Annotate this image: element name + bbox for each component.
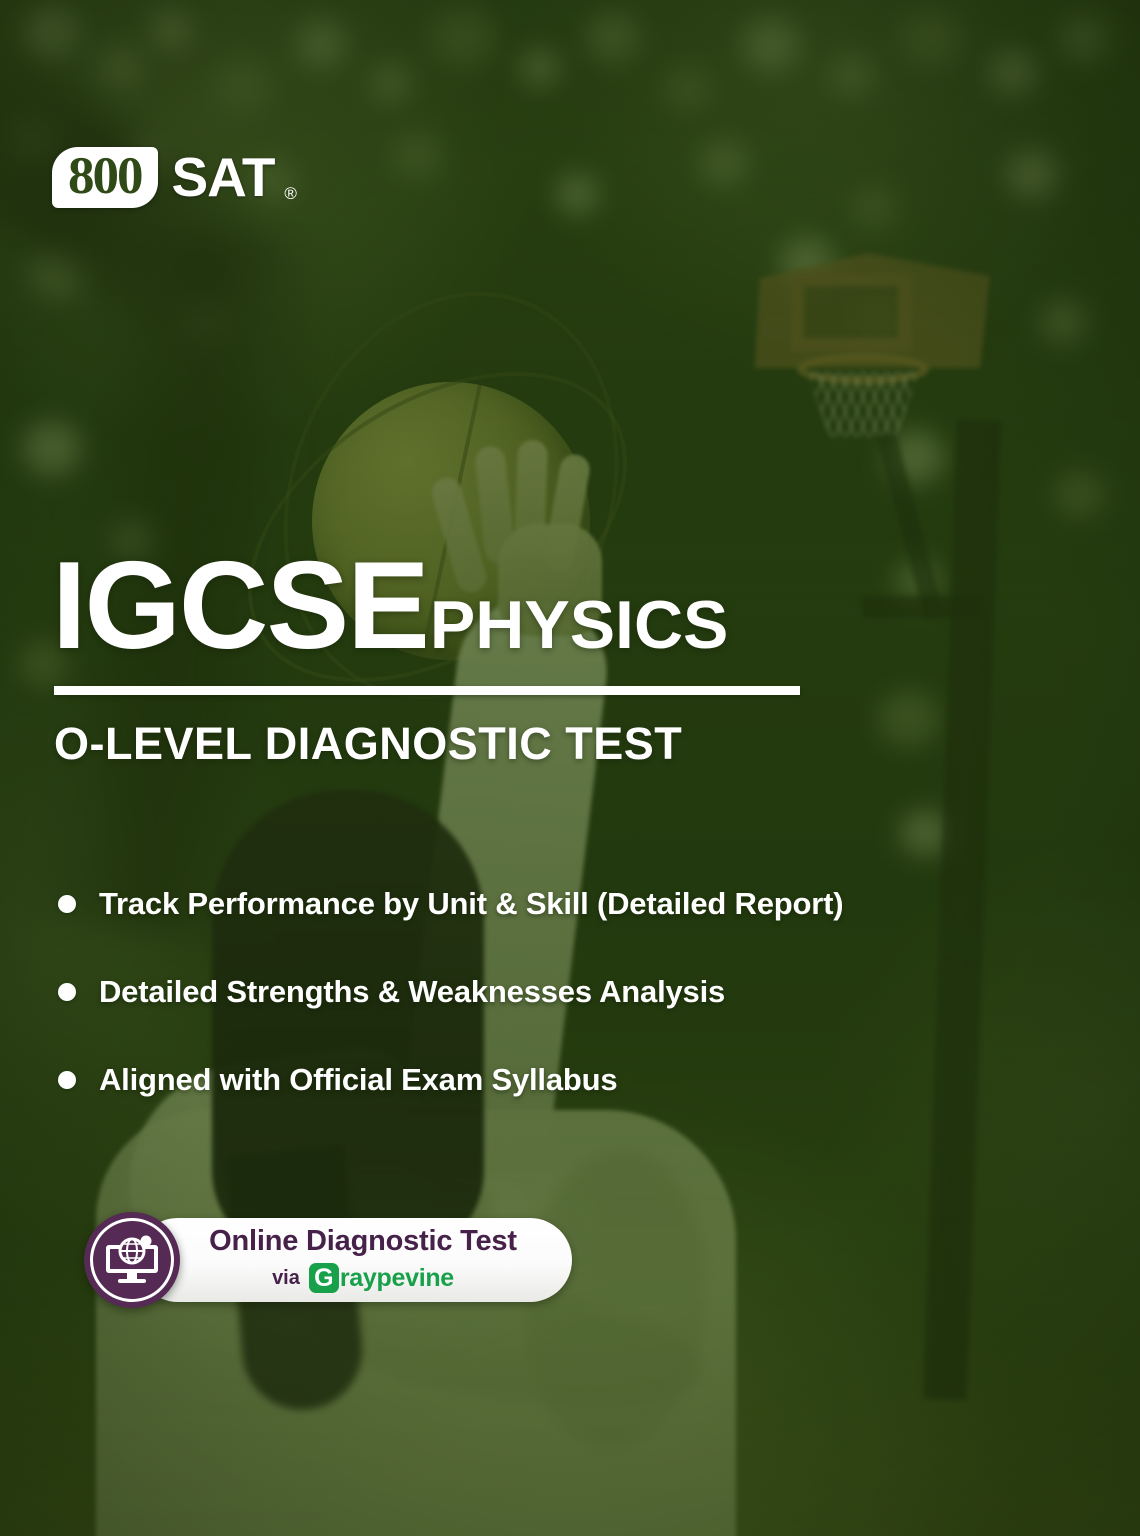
- feature-label: Aligned with Official Exam Syllabus: [99, 1062, 617, 1098]
- badge-provider-line: via G raypevine: [154, 1263, 572, 1293]
- feature-list: Track Performance by Unit & Skill (Detai…: [58, 886, 898, 1150]
- badge-via-label: via: [272, 1268, 300, 1288]
- poster-content: 800 SAT ® IGCSE PHYSICS O-LEVEL DIAGNOST…: [0, 0, 1140, 1536]
- graypevine-logo: G raypevine: [309, 1263, 454, 1293]
- title-main: IGCSE: [52, 548, 428, 665]
- brand-logo: 800 SAT ®: [52, 147, 297, 208]
- feature-label: Track Performance by Unit & Skill (Detai…: [99, 886, 843, 922]
- list-item: Aligned with Official Exam Syllabus: [58, 1062, 898, 1098]
- logo-sat-word: SAT: [172, 150, 275, 205]
- poster-canvas: 800 SAT ® IGCSE PHYSICS O-LEVEL DIAGNOST…: [0, 0, 1140, 1536]
- graypevine-g-mark-icon: G: [309, 1263, 339, 1293]
- logo-800-mark: 800: [52, 147, 158, 208]
- title-subject: PHYSICS: [430, 591, 729, 659]
- registered-trademark-icon: ®: [284, 184, 297, 204]
- feature-label: Detailed Strengths & Weaknesses Analysis: [99, 974, 725, 1010]
- online-test-badge[interactable]: Online Diagnostic Test via G raypevine: [84, 1212, 572, 1308]
- list-item: Detailed Strengths & Weaknesses Analysis: [58, 974, 898, 1010]
- filled-circle-bullet-icon: [58, 983, 76, 1001]
- title-tagline: O-LEVEL DIAGNOSTIC TEST: [54, 718, 682, 770]
- badge-title: Online Diagnostic Test: [154, 1227, 572, 1256]
- badge-text: Online Diagnostic Test via G raypevine: [154, 1227, 572, 1293]
- page-title: IGCSE PHYSICS: [52, 548, 728, 665]
- graypevine-wordmark: raypevine: [340, 1266, 454, 1291]
- filled-circle-bullet-icon: [58, 895, 76, 913]
- monitor-globe-icon: [103, 1235, 161, 1285]
- filled-circle-bullet-icon: [58, 1071, 76, 1089]
- list-item: Track Performance by Unit & Skill (Detai…: [58, 886, 898, 922]
- title-divider: [54, 686, 800, 695]
